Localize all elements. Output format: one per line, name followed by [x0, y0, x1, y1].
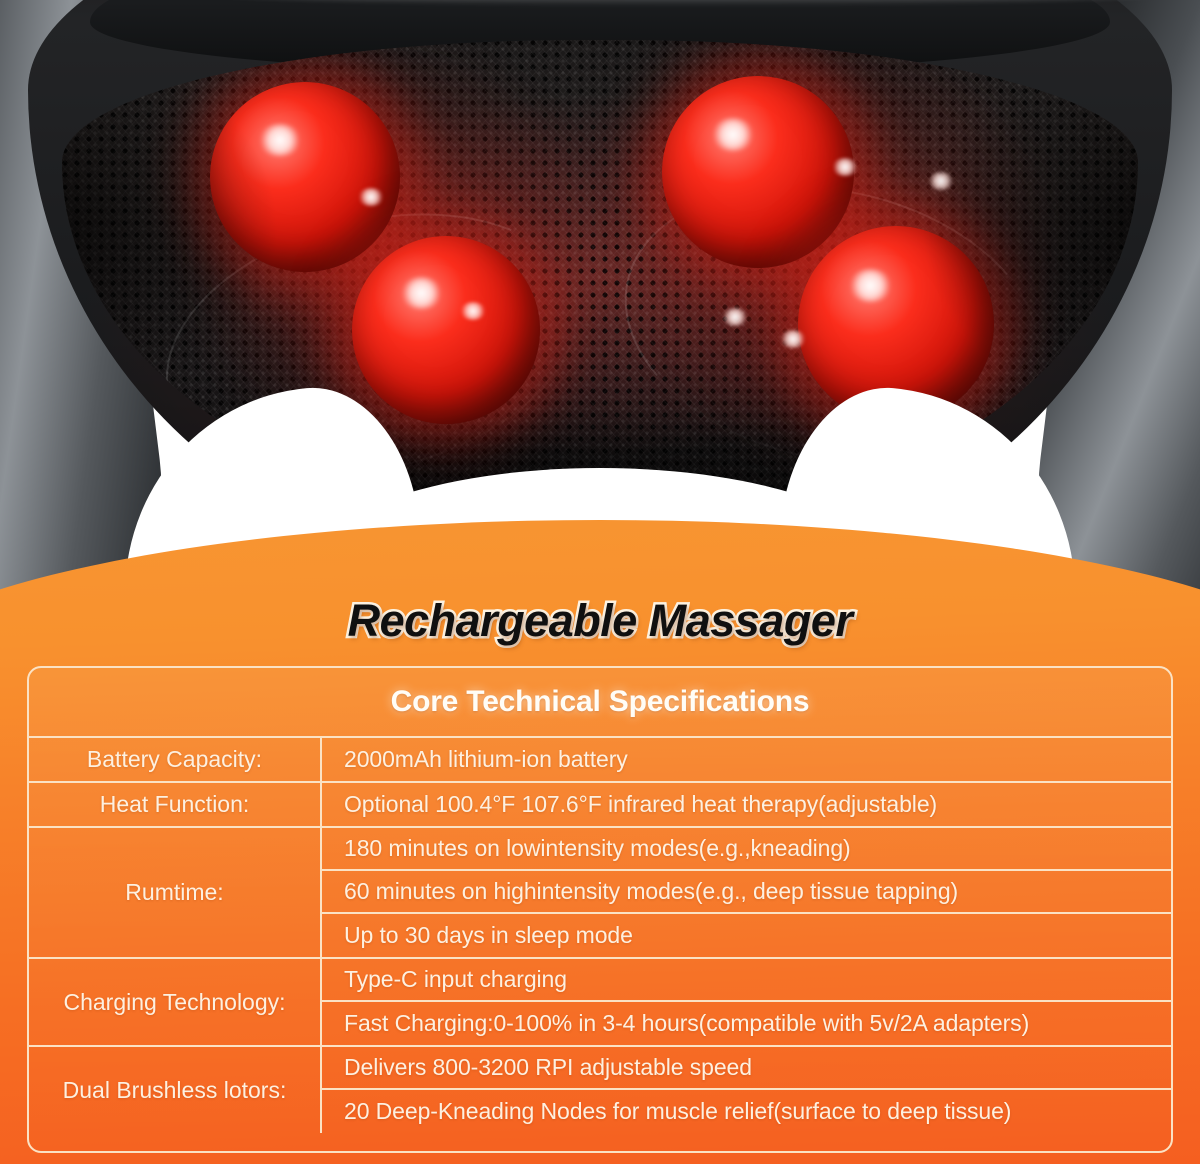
banner-content: Rechargeable Massager Core Technical Spe… [0, 520, 1200, 1164]
spec-value: 20 Deep-Kneading Nodes for muscle relief… [322, 1090, 1171, 1133]
table-row: Dual Brushless lotors: Delivers 800-3200… [29, 1047, 1171, 1133]
spec-value: Optional 100.4°F 107.6°F infrared heat t… [322, 783, 1171, 826]
table-row: Battery Capacity: 2000mAh lithium-ion ba… [29, 738, 1171, 783]
spec-value: 180 minutes on lowintensity modes(e.g.,k… [322, 828, 1171, 871]
spec-values: Type-C input charging Fast Charging:0-10… [322, 959, 1171, 1045]
spec-value: Type-C input charging [322, 959, 1171, 1002]
spec-label: Battery Capacity: [29, 738, 322, 781]
spec-values: 180 minutes on lowintensity modes(e.g.,k… [322, 828, 1171, 957]
table-row: Rumtime: 180 minutes on lowintensity mod… [29, 828, 1171, 959]
spec-value: Delivers 800-3200 RPI adjustable speed [322, 1047, 1171, 1090]
spec-value: 2000mAh lithium-ion battery [322, 738, 1171, 781]
spec-label: Rumtime: [29, 828, 322, 957]
spec-label: Dual Brushless lotors: [29, 1047, 322, 1133]
spec-value: 60 minutes on highintensity modes(e.g., … [322, 871, 1171, 914]
table-row: Charging Technology: Type-C input chargi… [29, 959, 1171, 1047]
spec-values: Optional 100.4°F 107.6°F infrared heat t… [322, 783, 1171, 826]
spec-values: 2000mAh lithium-ion battery [322, 738, 1171, 781]
spec-values: Delivers 800-3200 RPI adjustable speed 2… [322, 1047, 1171, 1133]
spec-label: Charging Technology: [29, 959, 322, 1045]
page-title: Rechargeable Massager [0, 595, 1200, 647]
product-spec-page: Rechargeable Massager Core Technical Spe… [0, 0, 1200, 1164]
leather-highlight [210, 0, 1170, 4]
spec-label: Heat Function: [29, 783, 322, 826]
spec-table: Core Technical Specifications Battery Ca… [27, 666, 1173, 1153]
spec-value: Up to 30 days in sleep mode [322, 914, 1171, 957]
table-row: Heat Function: Optional 100.4°F 107.6°F … [29, 783, 1171, 828]
spec-table-header: Core Technical Specifications [29, 668, 1171, 738]
spec-value: Fast Charging:0-100% in 3-4 hours(compat… [322, 1002, 1171, 1045]
